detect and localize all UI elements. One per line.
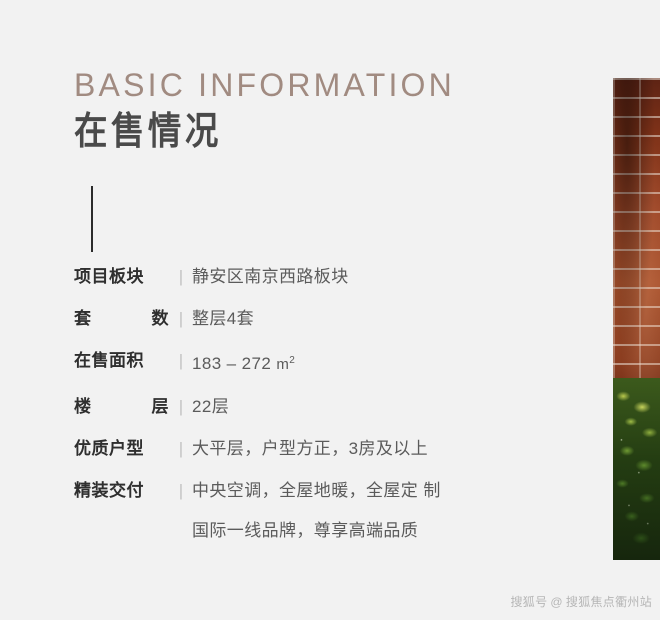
info-value-fine-decoration: 中央空调，全屋地暖，全屋定 制 国际一线品牌，尊享高端品质 [192,478,544,544]
value-line: 静安区南京西路板块 [192,264,544,290]
info-value-unit-count: 整层4套 [192,306,544,332]
unit-base: m [276,356,289,373]
label-char: 楼 [74,394,92,420]
watermark-suffix: 搜狐焦点衢州站 [566,593,652,610]
row-separator: | [170,394,192,420]
info-row-floor: 楼 层 | 22层 [74,394,544,420]
info-label-quality-layout: 优质户型 [74,436,170,462]
page-title: 在售情况 [74,111,409,155]
building-photo-strip [613,78,660,560]
label-char: 数 [152,306,170,332]
info-value-quality-layout: 大平层，户型方正，3房及以上 [192,436,544,462]
basic-information-list: 项目板块 | 静安区南京西路板块 套 数 | 整层4套 在售面积 | 183 –… [74,264,544,544]
value-line: 22层 [192,394,544,420]
info-row-unit-count: 套 数 | 整层4套 [74,306,544,332]
info-row-project-block: 项目板块 | 静安区南京西路板块 [74,264,544,290]
info-label-area-for-sale: 在售面积 [74,348,170,374]
page-eyebrow-title: BASIC INFORMATION [74,68,455,103]
row-separator: | [170,264,192,290]
row-separator: | [170,436,192,462]
value-line: 大平层，户型方正，3房及以上 [192,436,544,462]
accent-divider-rule [91,186,93,252]
area-range: 183 – 272 [192,354,271,373]
row-separator: | [170,306,192,332]
unit-exponent: 2 [289,355,295,366]
row-separator: | [170,348,192,374]
value-line: 整层4套 [192,306,544,332]
label-char: 套 [74,306,92,332]
info-label-fine-decoration: 精装交付 [74,478,170,504]
row-separator: | [170,478,192,504]
info-label-unit-count: 套 数 [74,306,170,332]
poster-canvas: BASIC INFORMATION 在售情况 项目板块 | 静安区南京西路板块 … [0,0,660,620]
area-unit: m2 [276,356,295,373]
info-row-quality-layout: 优质户型 | 大平层，户型方正，3房及以上 [74,436,544,462]
info-row-area-for-sale: 在售面积 | 183 – 272 m2 [74,348,544,378]
watermark-prefix: 搜狐号 [511,593,548,610]
info-value-floor: 22层 [192,394,544,420]
info-row-fine-decoration: 精装交付 | 中央空调，全屋地暖，全屋定 制 国际一线品牌，尊享高端品质 [74,478,544,544]
value-line: 中央空调，全屋地暖，全屋定 制 [192,478,544,504]
page-header: BASIC INFORMATION 在售情况 [74,68,455,155]
value-line: 国际一线品牌，尊享高端品质 [192,518,544,544]
info-label-floor: 楼 层 [74,394,170,420]
info-label-project-block: 项目板块 [74,264,170,290]
foliage-image [613,378,660,560]
watermark: 搜狐号 @ 搜狐焦点衢州站 [511,593,653,610]
brick-wall-image [613,78,660,408]
info-value-project-block: 静安区南京西路板块 [192,264,544,290]
label-char: 层 [152,394,170,420]
value-line: 183 – 272 m2 [192,348,544,378]
at-icon: @ [550,595,562,609]
info-value-area-for-sale: 183 – 272 m2 [192,348,544,378]
